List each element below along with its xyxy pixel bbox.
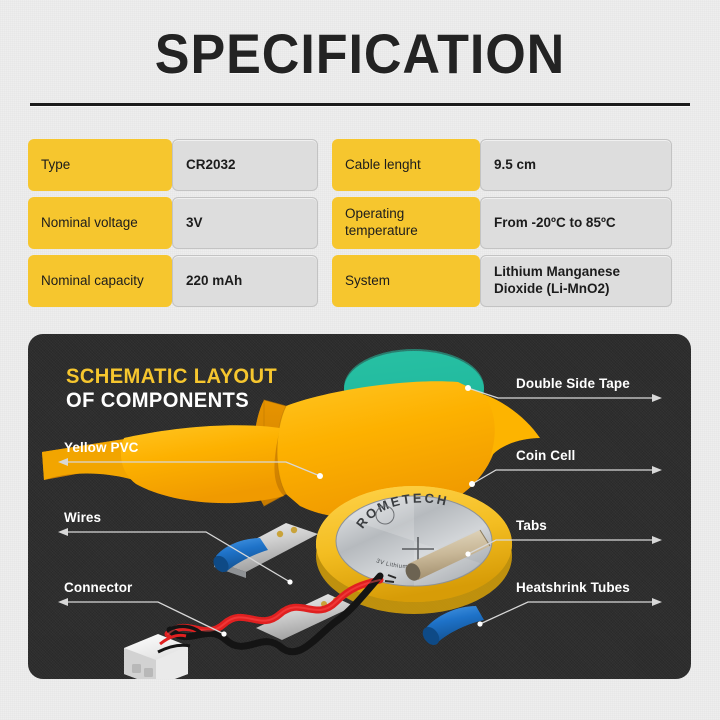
callout-label-coin-cell[interactable]: Coin Cell xyxy=(516,448,575,463)
callout-label-yellow-pvc[interactable]: Yellow PVC xyxy=(64,440,139,455)
page-header: SPECIFICATION xyxy=(0,26,720,82)
spec-value-type: CR2032 xyxy=(172,139,318,191)
title-divider xyxy=(30,103,690,106)
spec-key-cable-length: Cable lenght xyxy=(332,139,480,191)
spec-key-system: System xyxy=(332,255,480,307)
spec-key-nominal-voltage: Nominal voltage xyxy=(28,197,172,249)
column-gap xyxy=(318,255,332,307)
spec-value-cable-length: 9.5 cm xyxy=(480,139,672,191)
spec-key-type: Type xyxy=(28,139,172,191)
page-title: SPECIFICATION xyxy=(25,26,695,82)
callout-label-connector[interactable]: Connector xyxy=(64,580,132,595)
callout-label-double-side-tape[interactable]: Double Side Tape xyxy=(516,376,630,391)
wires-twisted-pair xyxy=(168,576,380,664)
spec-value-operating-temperature: From -20ºC to 85ºC xyxy=(480,197,672,249)
column-gap xyxy=(318,197,332,249)
callout-label-tabs[interactable]: Tabs xyxy=(516,518,547,533)
spec-key-operating-temperature: Operating temperature xyxy=(332,197,480,249)
spec-value-system: Lithium Manganese Dioxide (Li-MnO2) xyxy=(480,255,672,307)
callout-label-heatshrink-tubes[interactable]: Heatshrink Tubes xyxy=(516,580,630,595)
schematic-panel: SCHEMATIC LAYOUT OF COMPONENTS xyxy=(28,334,691,679)
spec-value-nominal-voltage: 3V xyxy=(172,197,318,249)
callout-label-wires[interactable]: Wires xyxy=(64,510,101,525)
spec-key-nominal-capacity: Nominal capacity xyxy=(28,255,172,307)
spec-value-nominal-capacity: 220 mAh xyxy=(172,255,318,307)
specification-table: Type CR2032 Cable lenght 9.5 cm Nominal … xyxy=(28,139,692,307)
column-gap xyxy=(318,139,332,191)
yellow-pvc-sleeve-body xyxy=(121,425,284,503)
